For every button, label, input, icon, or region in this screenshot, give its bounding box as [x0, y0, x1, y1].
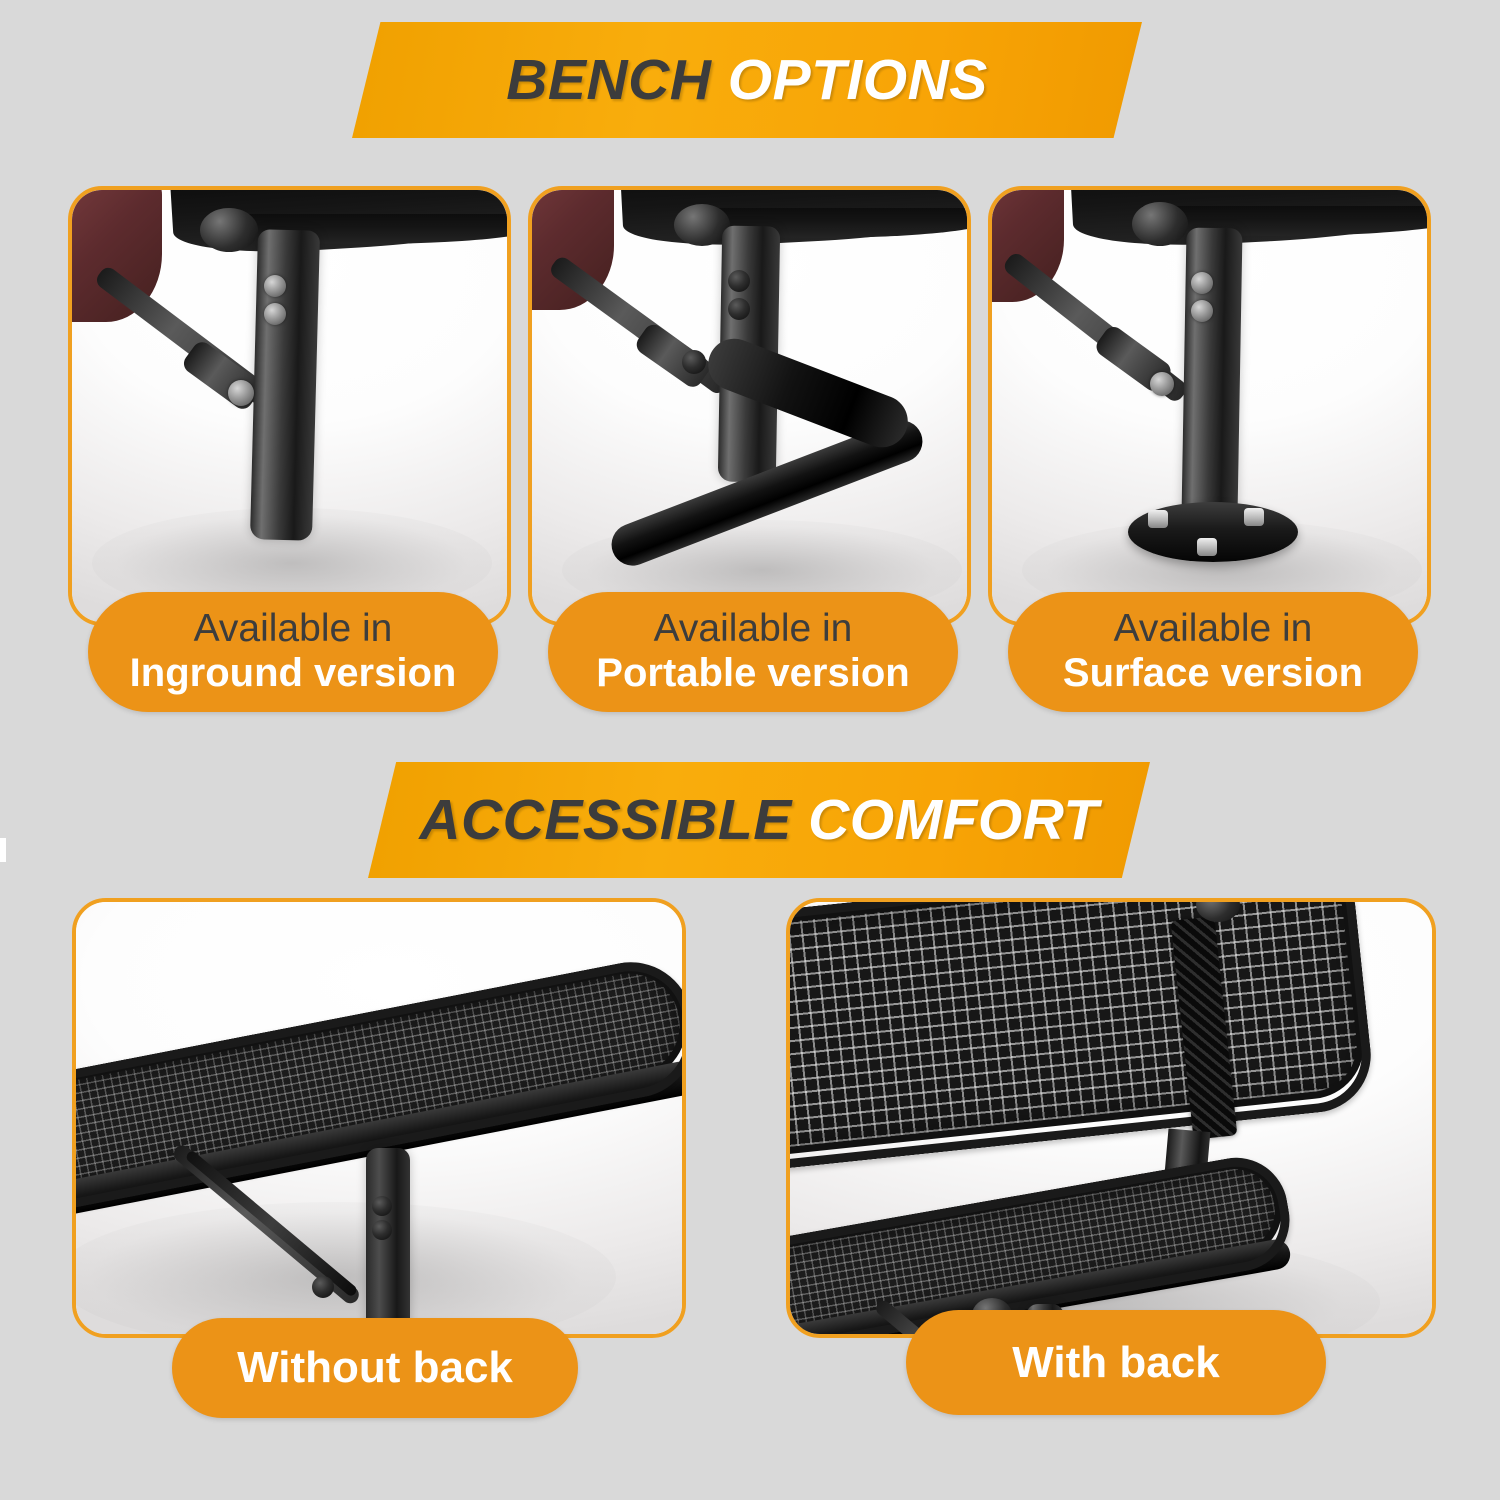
caption-text: Without back: [237, 1343, 513, 1393]
product-card-with-back[interactable]: [786, 898, 1436, 1338]
banner-word-light: OPTIONS: [728, 48, 988, 112]
caption-line-available: Available in: [1114, 607, 1313, 651]
section-banner-bench-options: BENCH OPTIONS: [352, 22, 1142, 138]
caption-pill-without-back: Without back: [172, 1318, 578, 1418]
card-photo-without-back: [76, 902, 682, 1334]
product-card-surface[interactable]: [988, 186, 1431, 626]
card-photo-portable: [532, 190, 967, 622]
caption-line-available: Available in: [654, 607, 853, 651]
section-banner-accessible-comfort: ACCESSIBLE COMFORT: [368, 762, 1150, 878]
artwork-portable-leg: [532, 190, 967, 622]
product-card-inground[interactable]: [68, 186, 511, 626]
section-divider-notch: [0, 838, 6, 862]
caption-pill-with-back: With back: [906, 1310, 1326, 1415]
caption-line-version: Inground version: [130, 651, 457, 696]
product-card-without-back[interactable]: [72, 898, 686, 1338]
card-photo-with-back: [790, 902, 1432, 1334]
artwork-surface-mount-leg: [992, 190, 1427, 622]
caption-pill-inground: Available in Inground version: [88, 592, 498, 712]
card-photo-surface: [992, 190, 1427, 622]
banner-word-dark: BENCH: [506, 48, 711, 112]
caption-text: With back: [1012, 1338, 1219, 1388]
banner-title-accessible-comfort: ACCESSIBLE COMFORT: [419, 787, 1098, 853]
artwork-bench-without-backrest: [76, 902, 682, 1334]
infographic-page: BENCH OPTIONS Available in Inground vers…: [0, 0, 1500, 1500]
caption-line-version: Surface version: [1063, 651, 1363, 696]
banner-word-dark: ACCESSIBLE: [419, 788, 791, 852]
banner-title-bench-options: BENCH OPTIONS: [506, 47, 988, 113]
banner-word-light: COMFORT: [808, 788, 1099, 852]
card-photo-inground: [72, 190, 507, 622]
artwork-bench-with-backrest: [790, 902, 1432, 1334]
caption-line-version: Portable version: [596, 651, 909, 696]
product-card-portable[interactable]: [528, 186, 971, 626]
caption-line-available: Available in: [194, 607, 393, 651]
caption-pill-surface: Available in Surface version: [1008, 592, 1418, 712]
caption-pill-portable: Available in Portable version: [548, 592, 958, 712]
artwork-inground-leg: [72, 190, 507, 622]
